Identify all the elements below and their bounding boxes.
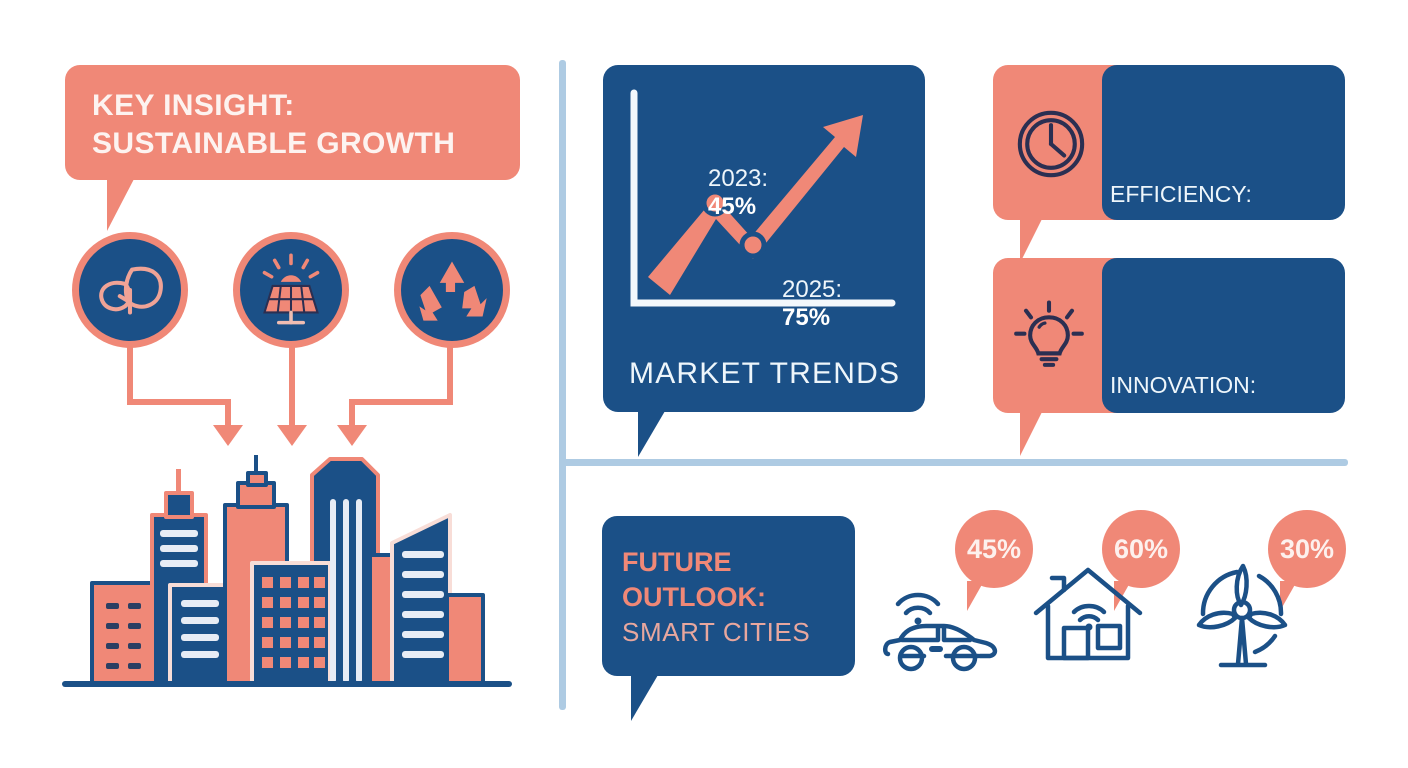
innovation-card-tail (1020, 412, 1042, 456)
key-insight-line2: SUSTAINABLE GROWTH (92, 125, 455, 163)
vertical-divider (559, 60, 566, 710)
market-trends-tail (638, 411, 665, 457)
icon-circle-leaf[interactable] (72, 232, 188, 348)
innovation-label: INNOVATION: (1110, 370, 1321, 401)
wind-turbine-icon (1185, 552, 1305, 677)
cityscape-illustration (62, 455, 522, 705)
future-outlook-line2: OUTLOOK: (622, 580, 766, 615)
icon-circle-solar[interactable] (233, 232, 349, 348)
future-outlook-line3: SMART CITIES (622, 617, 810, 648)
key-insight-line1: KEY INSIGHT: (92, 87, 295, 125)
efficiency-card-tail (1020, 219, 1042, 263)
recycle-icon (401, 239, 503, 341)
efficiency-label: EFFICIENCY: (1110, 179, 1252, 210)
datapoint-2025-value: 75% (782, 304, 830, 331)
clock-icon (1010, 103, 1092, 185)
datapoint-2025-label: 2025: (782, 276, 842, 303)
datapoint-2025: 2025: 75% (742, 248, 842, 360)
datapoint-2023-value: 45% (708, 193, 756, 220)
future-outlook-tail (631, 675, 658, 721)
infographic-canvas: KEY INSIGHT: SUSTAINABLE GROWTH (0, 0, 1408, 768)
lightbulb-icon (1008, 296, 1090, 378)
icon-connectors (100, 342, 500, 462)
datapoint-2023-label: 2023: (708, 165, 768, 192)
smart-home-icon (1030, 560, 1150, 670)
datapoint-2023: 2023: 45% (668, 137, 768, 249)
market-trends-title: MARKET TRENDS (629, 357, 900, 391)
smart-car-icon (880, 570, 1010, 680)
leaf-icon (79, 239, 181, 341)
innovation-value: 50% ADOPTION (1148, 434, 1321, 460)
innovation-text: INNOVATION: 50% ADOPTION (1110, 308, 1321, 494)
solar-panel-icon (240, 239, 342, 341)
bubble-tail (107, 179, 134, 231)
icon-circle-recycle[interactable] (394, 232, 510, 348)
future-outlook-line1: FUTURE (622, 545, 732, 580)
